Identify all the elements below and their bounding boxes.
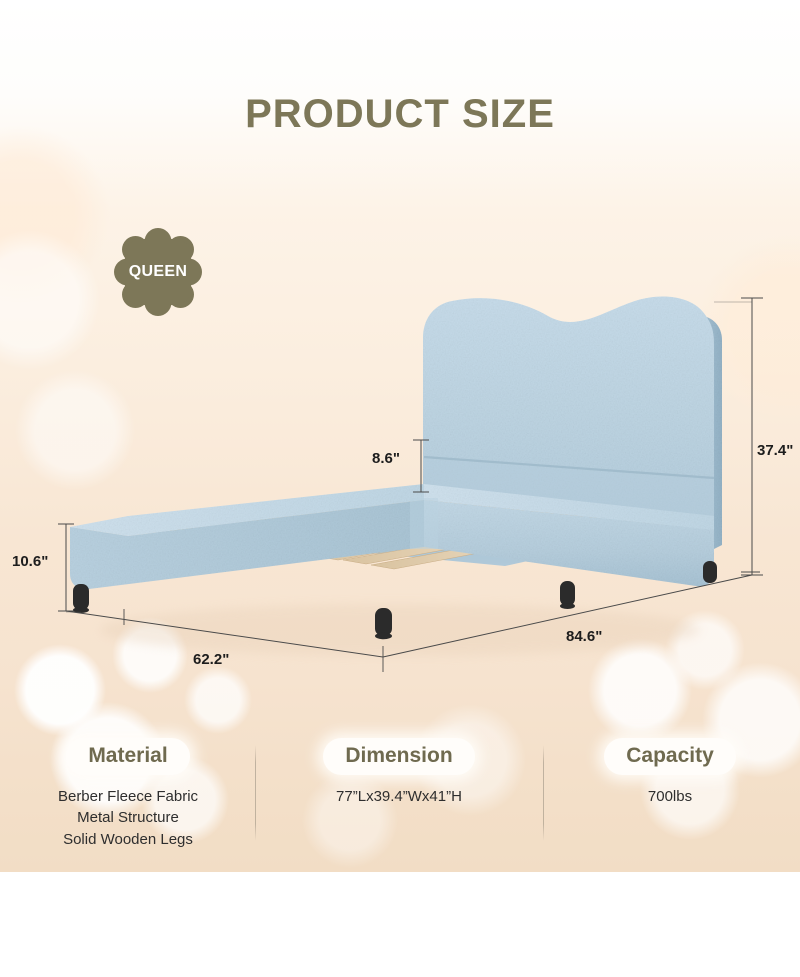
spec-body-capacity: 700lbs <box>556 786 784 807</box>
spec-heading-dimension: Dimension <box>323 738 474 775</box>
background-white-strip <box>0 872 800 977</box>
spec-column-capacity: Capacity 700lbs <box>556 738 784 807</box>
spec-body-dimension: 77”Lx39.4”Wx41”H <box>268 786 530 807</box>
spec-line: 77”Lx39.4”Wx41”H <box>268 786 530 807</box>
spec-line: Metal Structure <box>14 807 242 828</box>
spec-body-material: Berber Fleece Fabric Metal Structure Sol… <box>14 786 242 850</box>
dimension-label-bed-length: 84.6" <box>566 628 602 645</box>
leg-front-left <box>73 584 89 610</box>
spec-line: Berber Fleece Fabric <box>14 786 242 807</box>
leg-foot-front-center <box>375 633 392 639</box>
rail-corner <box>410 498 438 549</box>
dimension-label-bed-width: 62.2" <box>193 651 229 668</box>
dimension-label-base-height: 10.6" <box>12 553 48 570</box>
leg-foot-front-right <box>560 603 575 609</box>
floor-shadow <box>100 604 700 656</box>
leg-back-right <box>703 561 717 583</box>
spec-heading-capacity: Capacity <box>604 738 736 775</box>
spec-line: Solid Wooden Legs <box>14 829 242 850</box>
spec-row: Material Berber Fleece Fabric Metal Stru… <box>0 738 800 858</box>
leg-front-right <box>560 581 575 606</box>
spec-column-material: Material Berber Fleece Fabric Metal Stru… <box>14 738 242 850</box>
dimension-label-frame-side-height: 8.6" <box>372 450 400 467</box>
infographic-root: PRODUCT SIZE QUEEN <box>0 0 800 977</box>
spec-heading-material: Material <box>66 738 189 775</box>
dimension-label-headboard-height: 37.4" <box>757 442 793 459</box>
spec-column-dimension: Dimension 77”Lx39.4”Wx41”H <box>268 738 530 807</box>
spec-line: 700lbs <box>556 786 784 807</box>
leg-front-center <box>375 608 392 636</box>
